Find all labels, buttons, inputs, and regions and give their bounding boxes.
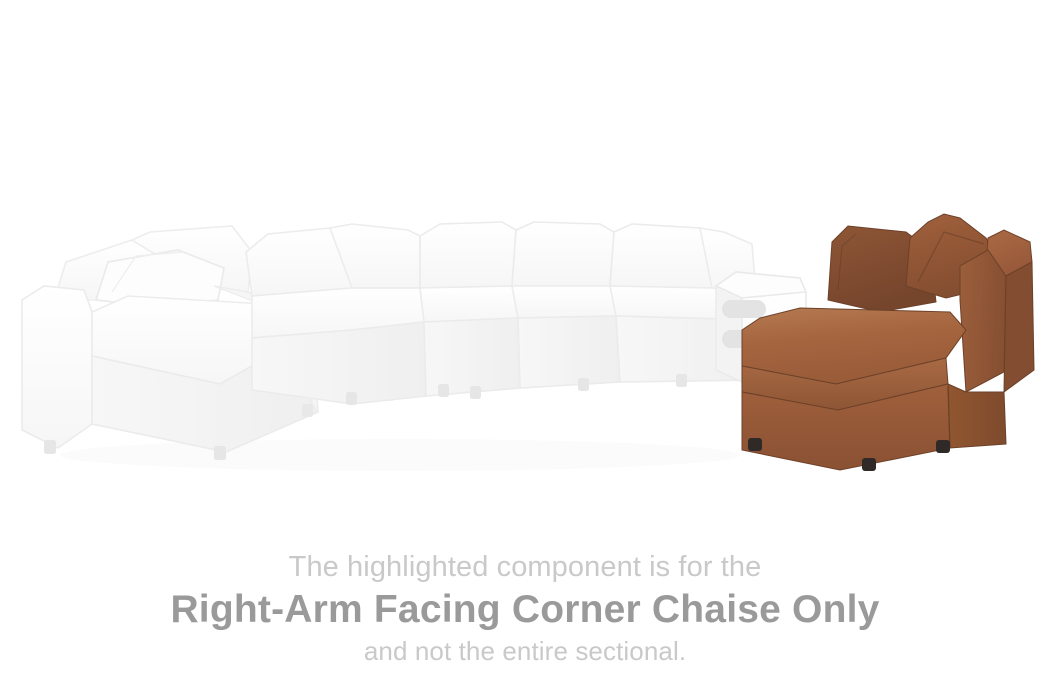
- console-right-cupholder-upper: [722, 300, 766, 318]
- corner-seat-cushion: [420, 286, 518, 322]
- amc-seat-cushion: [512, 286, 616, 318]
- chaise-base-side: [948, 384, 1006, 448]
- laf-foot-front-left: [44, 440, 56, 454]
- chaise-right-arm-inner: [960, 250, 1006, 392]
- laf-foot-front-right: [214, 446, 226, 460]
- sectional-illustration: [0, 0, 1050, 520]
- chaise-right-arm-outer: [1004, 262, 1034, 392]
- module-armless-chair-center: [512, 222, 620, 391]
- corner-base: [424, 318, 520, 396]
- module-corner-wedge: [420, 222, 520, 399]
- chaise-foot-front-left: [748, 438, 762, 451]
- laf-foot-back-right: [302, 404, 313, 417]
- chaise-foot-back-right: [936, 440, 950, 453]
- amc-base: [518, 316, 620, 388]
- amc-back-cushion: [512, 222, 614, 286]
- amr-foot-left: [676, 374, 687, 387]
- corner-foot-right: [470, 386, 481, 399]
- dimmed-sectional-group: [22, 222, 806, 471]
- caption-lead-line: The highlighted component is for the: [0, 548, 1050, 586]
- module-armless-chair-left: [246, 224, 426, 405]
- module-right-arm-facing-corner-chaise: [742, 214, 1034, 471]
- sectional-diagram: [0, 0, 1050, 520]
- corner-back-cushion: [420, 222, 516, 288]
- amc-foot: [578, 378, 589, 391]
- product-highlight-page: The highlighted component is for the Rig…: [0, 0, 1050, 700]
- amr-back-cushion: [610, 224, 716, 288]
- corner-foot-left: [438, 384, 449, 397]
- caption-tail-line: and not the entire sectional.: [0, 634, 1050, 668]
- caption-block: The highlighted component is for the Rig…: [0, 548, 1050, 668]
- floor-shadow: [60, 439, 740, 471]
- aml-foot: [346, 392, 357, 405]
- laf-left-arm: [22, 286, 92, 448]
- chaise-foot-front-right: [862, 458, 876, 471]
- caption-main-line: Right-Arm Facing Corner Chaise Only: [0, 586, 1050, 634]
